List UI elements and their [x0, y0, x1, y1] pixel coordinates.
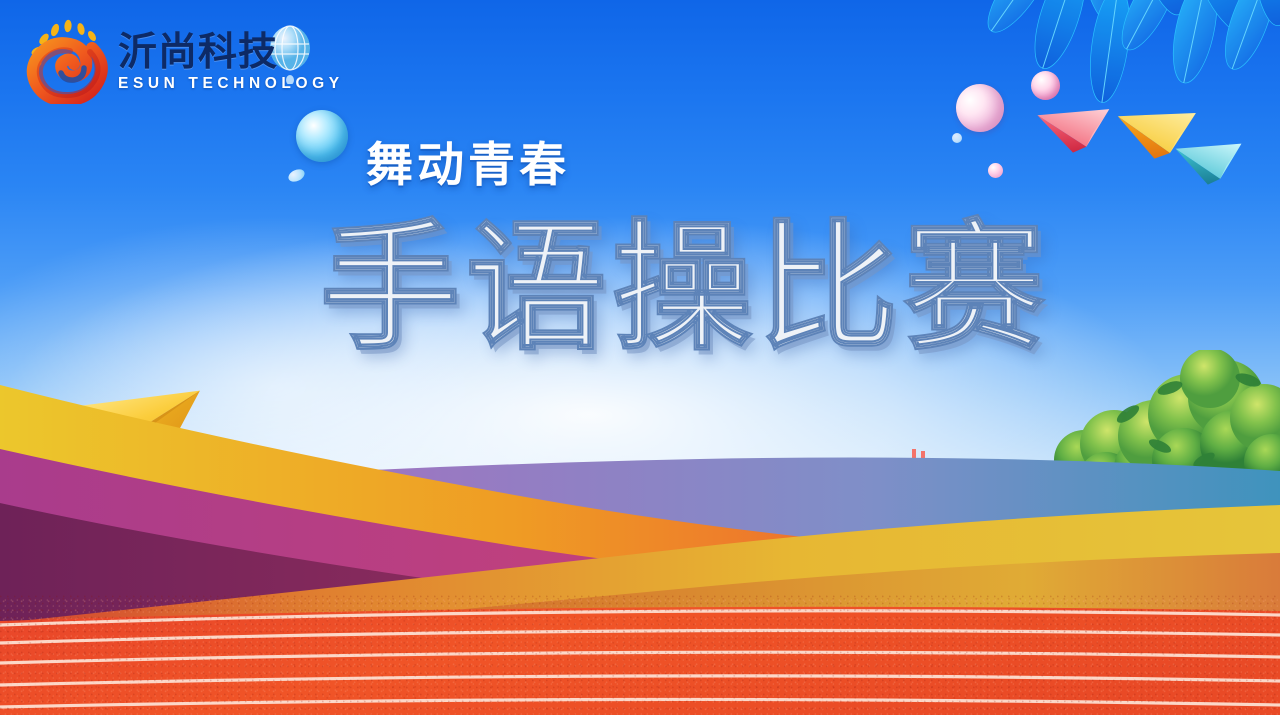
track-texture — [0, 595, 1280, 715]
poster-canvas: 沂尚科技 ESUN TECHNOLOGY 舞动青春 手语操比赛 — [0, 0, 1280, 715]
bubble-pink-medium — [1031, 71, 1060, 100]
brand-logo[interactable]: 沂尚科技 ESUN TECHNOLOGY — [22, 18, 344, 104]
brand-name-cn: 沂尚科技 — [118, 33, 344, 74]
poster-subtitle: 舞动青春 — [366, 126, 570, 195]
sun-swirl-emblem-icon — [22, 18, 118, 104]
bubble-cyan-large — [296, 110, 348, 162]
poster-main-title: 手语操比赛 — [320, 218, 1050, 358]
bubble-pink-tiny — [988, 163, 1003, 178]
brand-name-en: ESUN TECHNOLOGY — [118, 75, 344, 93]
bubble-white-tiny — [952, 133, 962, 143]
